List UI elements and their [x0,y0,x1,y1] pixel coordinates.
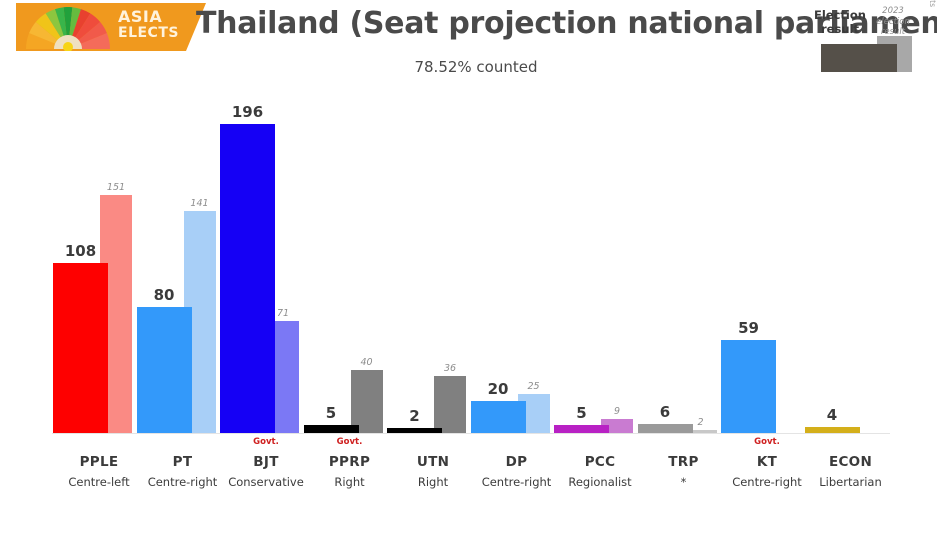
bar-current-dp [471,401,526,433]
logo-wordmark: ASIA ELECTS [118,9,198,40]
value-previous-pple: 151 [100,182,132,193]
legend-swatch-current [821,44,897,72]
page-title: Thailand (Seat projection national parli… [196,6,756,41]
logo-line-1: ASIA [118,9,198,26]
value-current-utn: 2 [387,407,442,425]
chart-header: ASIA ELECTS Thailand (Seat projection na… [0,0,937,92]
legend-label-current: Election result [809,8,871,37]
legend-label-previous: 2023 election result [871,6,915,38]
bars-container: 4 [800,92,902,433]
fan-logo-icon [22,7,114,51]
bar-current-pple [53,263,108,433]
bar-current-kt [721,340,776,433]
party-abbr: ECON [800,454,902,470]
value-previous-pprp: 40 [351,357,383,368]
value-current-pcc: 5 [554,404,609,422]
bar-current-trp [638,424,693,433]
value-current-dp: 20 [471,380,526,398]
value-current-kt: 59 [721,319,776,337]
value-previous-pt: 141 [184,198,216,209]
value-previous-utn: 36 [434,363,466,374]
bar-current-bjt [220,124,275,433]
bar-group-econ: 4ECONLibertarian [800,92,902,540]
logo-line-2: ELECTS [118,26,198,41]
chart-legend: Election result 2023 election result [807,2,927,74]
x-axis-label-econ: ECONLibertarian [800,454,902,489]
bar-previous-pprp [351,370,383,433]
value-current-pprp: 5 [304,404,359,422]
value-current-econ: 4 [805,406,860,424]
bar-current-pprp [304,425,359,433]
bar-current-econ [805,427,860,433]
bar-current-utn [387,428,442,433]
bar-current-pt [137,307,192,433]
bar-current-pcc [554,425,609,433]
chart-subtitle: 78.52% counted [196,58,756,76]
copyright-notice: © 2026 @AsiaElects [928,0,937,2]
value-current-trp: 6 [638,403,693,421]
value-current-bjt: 196 [220,103,275,121]
value-current-pt: 80 [137,286,192,304]
value-current-pple: 108 [53,242,108,260]
asia-elects-logo: ASIA ELECTS [16,3,206,51]
bar-chart-plot-area: 151108PPLECentre-left14180PTCentre-right… [0,92,937,540]
party-ideology: Libertarian [800,475,902,489]
